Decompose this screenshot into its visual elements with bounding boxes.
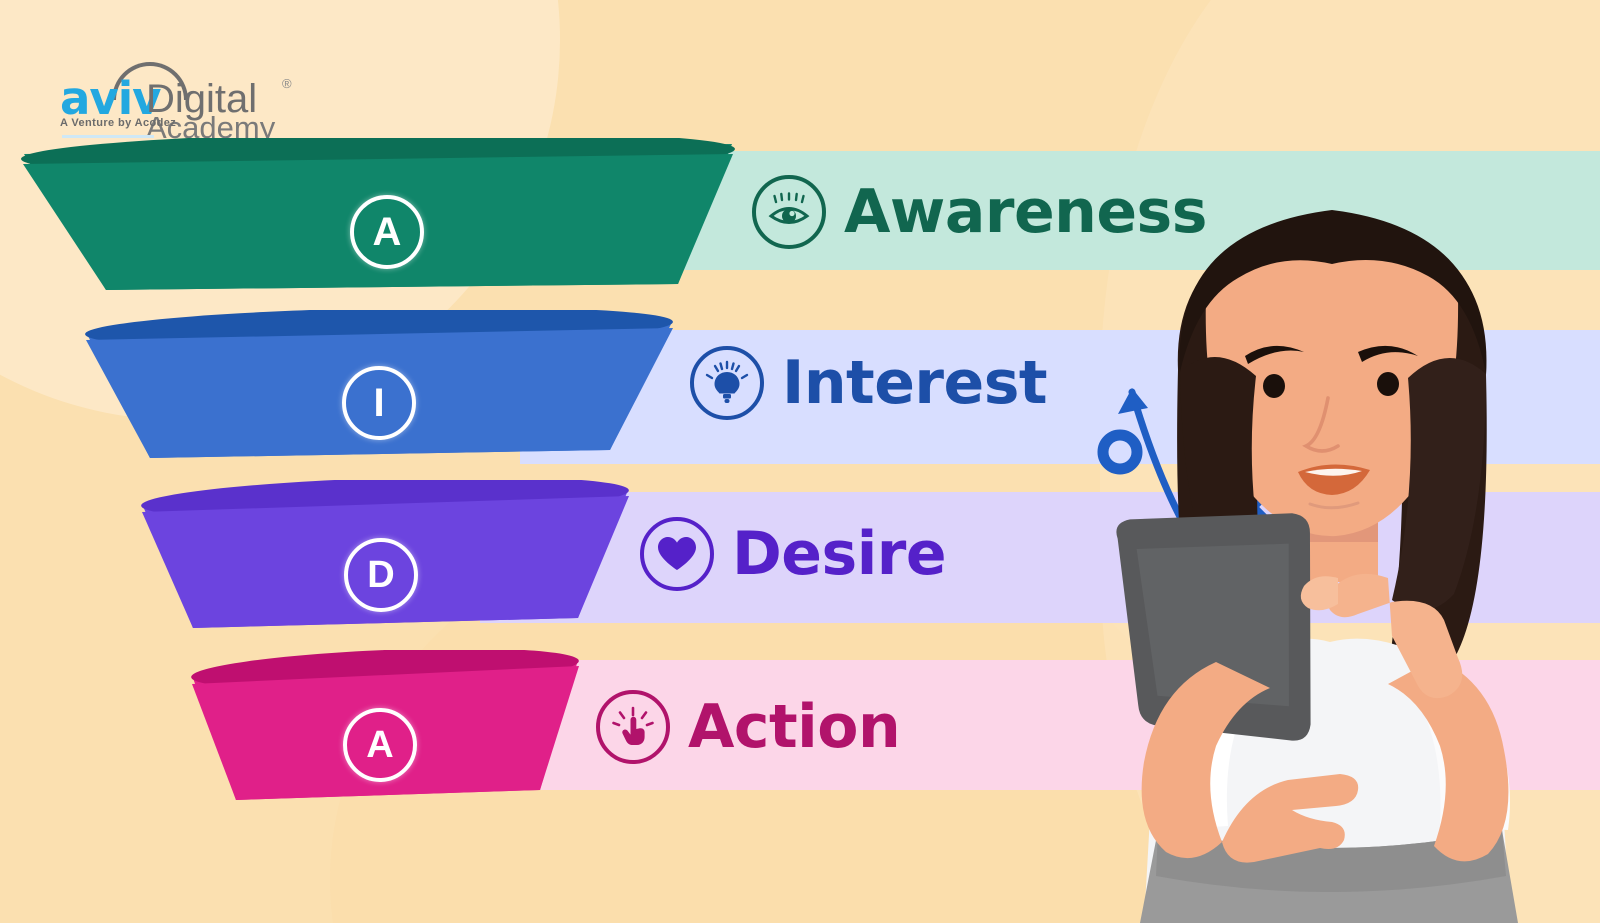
- registered-trademark-icon: ®: [282, 76, 292, 91]
- funnel-stage-action[interactable]: A: [188, 650, 583, 805]
- funnel-label-interest[interactable]: Interest: [690, 346, 1047, 420]
- left-eye: [1263, 374, 1285, 398]
- funnel-label-text-desire: Desire: [732, 519, 946, 589]
- funnel-infographic: aviv Digital ® Academy A Venture by Acod…: [0, 0, 1600, 923]
- funnel-stage-awareness[interactable]: A: [18, 138, 738, 298]
- eye-icon: [752, 175, 826, 249]
- logo-tagline: A Venture by Acodez: [60, 117, 176, 129]
- cursor-tap-icon: [596, 690, 670, 764]
- funnel-letter-desire: D: [367, 554, 394, 597]
- lightbulb-icon: [690, 346, 764, 420]
- funnel-letter-badge-awareness: A: [350, 195, 424, 269]
- funnel-stage-desire[interactable]: D: [138, 480, 633, 635]
- funnel-label-text-action: Action: [688, 692, 900, 762]
- funnel-letter-interest: I: [373, 381, 384, 426]
- funnel-letter-awareness: A: [373, 210, 402, 255]
- person-illustration: [1040, 190, 1600, 923]
- funnel-label-action[interactable]: Action: [596, 690, 900, 764]
- right-eye: [1377, 372, 1399, 396]
- funnel-label-text-interest: Interest: [782, 348, 1047, 418]
- heart-icon: [640, 517, 714, 591]
- funnel-letter-badge-action: A: [343, 708, 417, 782]
- funnel-label-desire[interactable]: Desire: [640, 517, 946, 591]
- funnel-letter-action: A: [366, 724, 393, 767]
- brand-logo[interactable]: aviv Digital ® Academy A Venture by Acod…: [58, 62, 278, 142]
- funnel-letter-badge-interest: I: [342, 366, 416, 440]
- funnel-letter-badge-desire: D: [344, 538, 418, 612]
- funnel-stage-interest[interactable]: I: [82, 310, 677, 465]
